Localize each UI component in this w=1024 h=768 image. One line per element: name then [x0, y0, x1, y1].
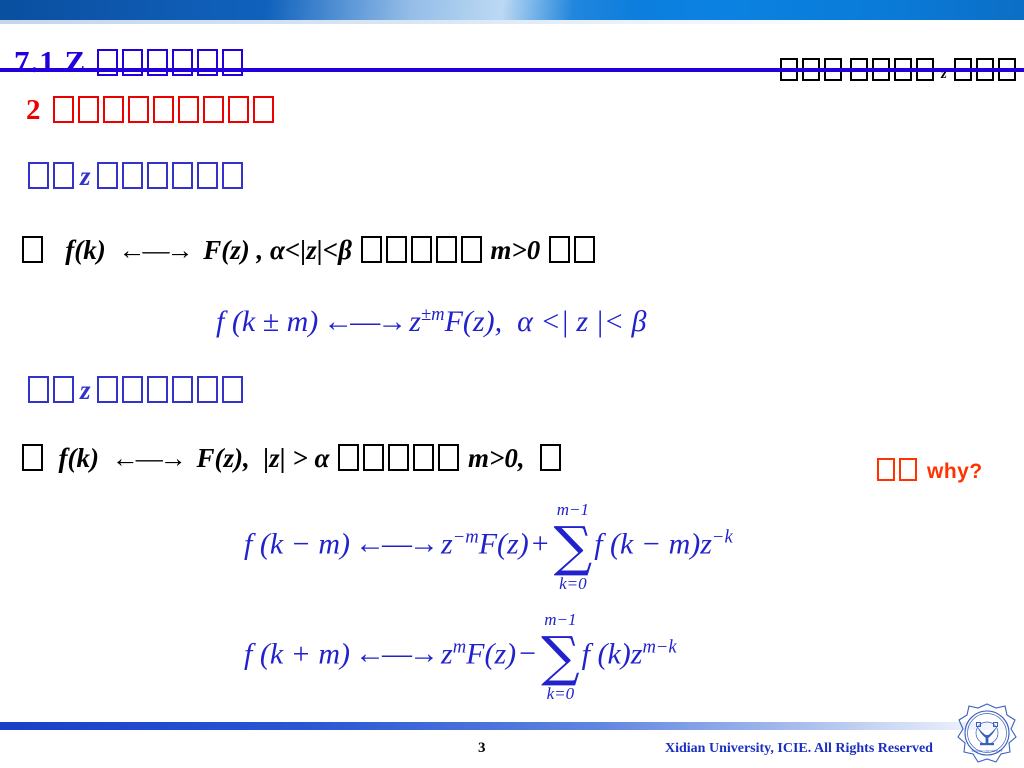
subheading-bilateral-shift: z	[26, 162, 245, 190]
formula-delay-operator: +	[532, 527, 549, 560]
page-title-prefix: 7.1 Z	[14, 44, 86, 79]
footer-divider	[0, 722, 1024, 730]
formula-delay-z: z	[441, 527, 453, 560]
think-note: why?	[875, 458, 983, 484]
copyright-notice: Xidian University, ICIE. All Rights Rese…	[665, 741, 933, 757]
statement-bilateral: f(k) ←—→ F(z) , α<|z|<β m>0	[20, 236, 597, 264]
statement-unilateral-roc: |z| > α	[263, 443, 329, 473]
section-heading-number: 2	[26, 94, 41, 126]
formula-advance-exponent: m	[453, 636, 466, 657]
formula-advance-summand-exponent: m−k	[642, 636, 676, 657]
subheading-bilateral-variable: z	[80, 161, 91, 191]
section-heading: 2	[26, 96, 276, 125]
bidirectional-arrow-icon: ←—→	[355, 637, 436, 670]
think-note-text: why?	[927, 460, 983, 483]
formula-unilateral-delay: f (k − m)←—→z−mF(z)+m−1∑k=0f (k − m)z−k	[244, 525, 733, 568]
formula-shift-exponent: ±m	[421, 304, 445, 325]
formula-delay-lhs: f (k − m)	[244, 527, 350, 560]
bidirectional-arrow-icon: ←—→	[118, 237, 190, 264]
formula-advance-lhs: f (k + m)	[244, 637, 350, 670]
top-banner-decoration	[0, 0, 1024, 20]
formula-advance-sum-lower: k=0	[547, 685, 575, 702]
statement-unilateral: f(k) ←—→ F(z), |z| > α m>0,	[20, 444, 563, 472]
bidirectional-arrow-icon: ←—→	[112, 445, 184, 472]
formula-delay-Fz: F(z)	[479, 527, 529, 560]
page-number: 3	[478, 740, 486, 757]
university-seal-logo: XIDIAN UNIVERSITY	[955, 702, 1019, 766]
statement-unilateral-lhs: f(k)	[59, 443, 99, 473]
subheading-unilateral-shift: z	[26, 376, 245, 404]
statement-bilateral-condition: m>0	[490, 235, 540, 265]
summation-symbol-icon: m−1∑k=0	[554, 525, 593, 568]
formula-advance-summand: f (k)z	[582, 637, 643, 670]
formula-advance-Fz: F(z)	[466, 637, 516, 670]
page-title-cjk	[95, 44, 245, 79]
formula-shift-lhs: f (k ± m)	[216, 305, 318, 338]
formula-delay-sum-lower: k=0	[559, 575, 587, 592]
formula-advance-z: z	[441, 637, 453, 670]
formula-delay-summand-exponent: −k	[712, 526, 733, 547]
bidirectional-arrow-icon: ←—→	[323, 305, 404, 338]
formula-shift-roc: α <| z |< β	[517, 305, 646, 338]
formula-unilateral-advance: f (k + m)←—→zmF(z)−m−1∑k=0f (k)zm−k	[244, 635, 677, 678]
formula-shift-property: f (k ± m)←—→z±mF(z), α <| z |< β	[216, 306, 646, 337]
summation-symbol-icon: m−1∑k=0	[541, 635, 580, 678]
formula-shift-z: z	[409, 305, 421, 338]
formula-delay-exponent: −m	[453, 526, 479, 547]
subheading-unilateral-variable: z	[80, 375, 91, 405]
svg-text:XIDIAN UNIVERSITY: XIDIAN UNIVERSITY	[971, 749, 1003, 753]
statement-unilateral-condition: m>0,	[468, 443, 525, 473]
formula-advance-operator: −	[519, 637, 536, 670]
formula-shift-Fz: F(z),	[445, 305, 502, 338]
slide-header: 7.1 Z z	[0, 22, 1024, 70]
formula-delay-summand: f (k − m)z	[594, 527, 712, 560]
statement-unilateral-rhs: F(z),	[196, 443, 249, 473]
statement-bilateral-rhs: F(z) ,	[203, 235, 263, 265]
formula-advance-sum-upper: m−1	[544, 611, 576, 628]
title-divider	[0, 68, 1024, 72]
statement-bilateral-lhs: f(k)	[65, 235, 105, 265]
page-title: 7.1 Z	[14, 46, 245, 77]
statement-bilateral-roc: α<|z|<β	[270, 235, 352, 265]
bidirectional-arrow-icon: ←—→	[355, 527, 436, 560]
formula-delay-sum-upper: m−1	[557, 501, 589, 518]
